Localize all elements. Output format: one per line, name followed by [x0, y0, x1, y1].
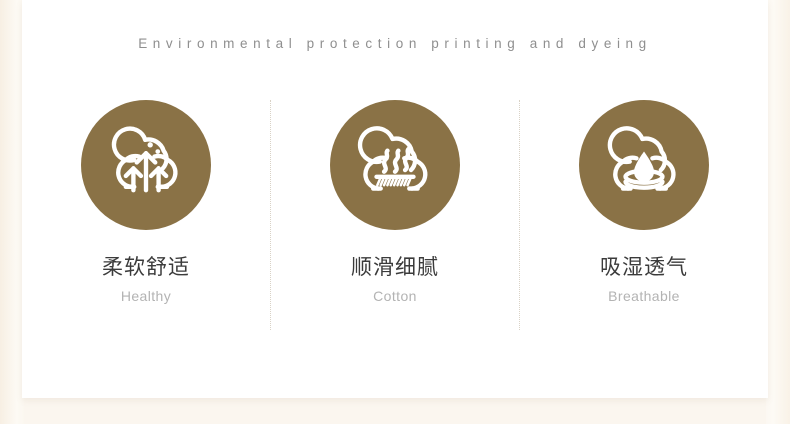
cotton-arrows-icon — [104, 123, 188, 207]
feature-title-en: Cotton — [373, 288, 417, 304]
feature-item-breathability[interactable]: 吸湿透气 Breathable — [520, 100, 768, 304]
page-title: Environmental protection printing and dy… — [22, 36, 768, 51]
feature-icon-badge — [330, 100, 460, 230]
promo-banner: Environmental protection printing and dy… — [0, 0, 790, 424]
feature-columns: 柔软舒适 Healthy — [22, 100, 768, 330]
right-edge-band — [766, 0, 790, 424]
feature-item-smoothness[interactable]: 顺滑细腻 Cotton — [271, 100, 519, 304]
content-card: Environmental protection printing and dy… — [22, 0, 768, 398]
cotton-steam-icon — [353, 123, 437, 207]
feature-title-cn: 柔软舒适 — [102, 256, 190, 279]
feature-item-softness[interactable]: 柔软舒适 Healthy — [22, 100, 270, 304]
feature-title-en: Healthy — [121, 288, 171, 304]
feature-icon-badge — [81, 100, 211, 230]
feature-title-cn: 吸湿透气 — [600, 256, 688, 279]
feature-title-en: Breathable — [608, 288, 680, 304]
left-edge-band — [0, 0, 24, 424]
feature-title-cn: 顺滑细腻 — [351, 256, 439, 279]
cotton-droplet-icon — [602, 123, 686, 207]
feature-icon-badge — [579, 100, 709, 230]
